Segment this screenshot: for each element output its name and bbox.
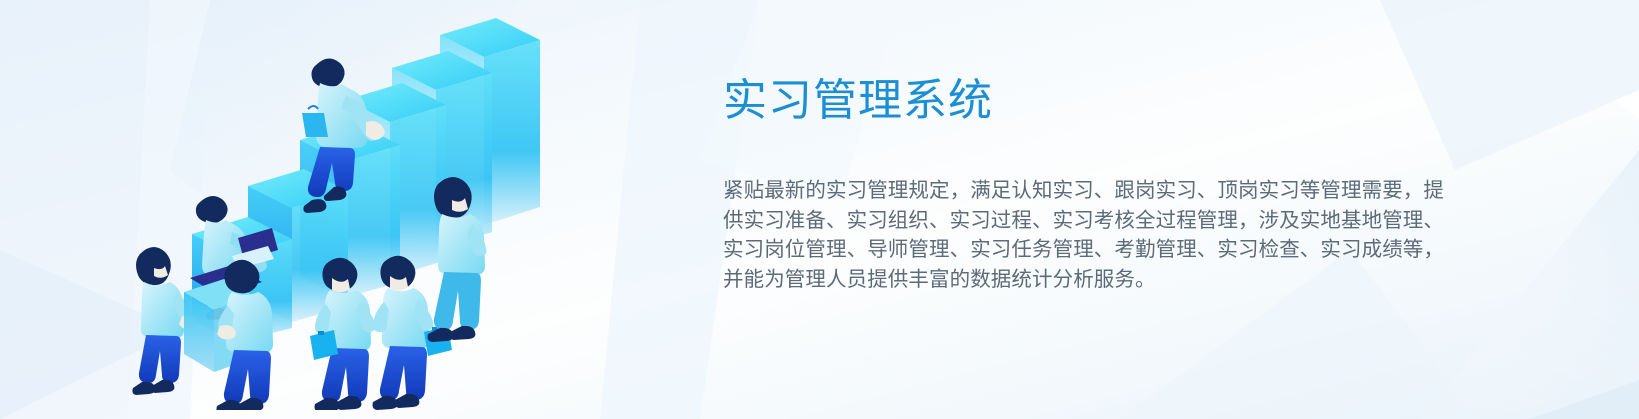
hero-banner: 实习管理系统 紧贴最新的实习管理规定，满足认知实习、跟岗实习、顶岗实习等管理需要… <box>0 0 1639 419</box>
description-line-3: 实习岗位管理、导师管理、实习任务管理、考勤管理、实习检查、实习成绩等， <box>723 235 1399 265</box>
page-title: 实习管理系统 <box>723 72 1423 130</box>
description-line-2: 供实习准备、实习组织、实习过程、实习考核全过程管理，涉及实地基地管理、 <box>723 206 1399 236</box>
page-description: 紧贴最新的实习管理规定，满足认知实习、跟岗实习、顶岗实习等管理需要，提 供实习准… <box>723 130 1399 294</box>
hero-text-block: 实习管理系统 紧贴最新的实习管理规定，满足认知实习、跟岗实习、顶岗实习等管理需要… <box>723 72 1423 294</box>
description-line-1: 紧贴最新的实习管理规定，满足认知实习、跟岗实习、顶岗实习等管理需要，提 <box>723 176 1399 206</box>
hero-illustration <box>120 10 540 410</box>
description-line-4: 并能为管理人员提供丰富的数据统计分析服务。 <box>723 265 1399 295</box>
